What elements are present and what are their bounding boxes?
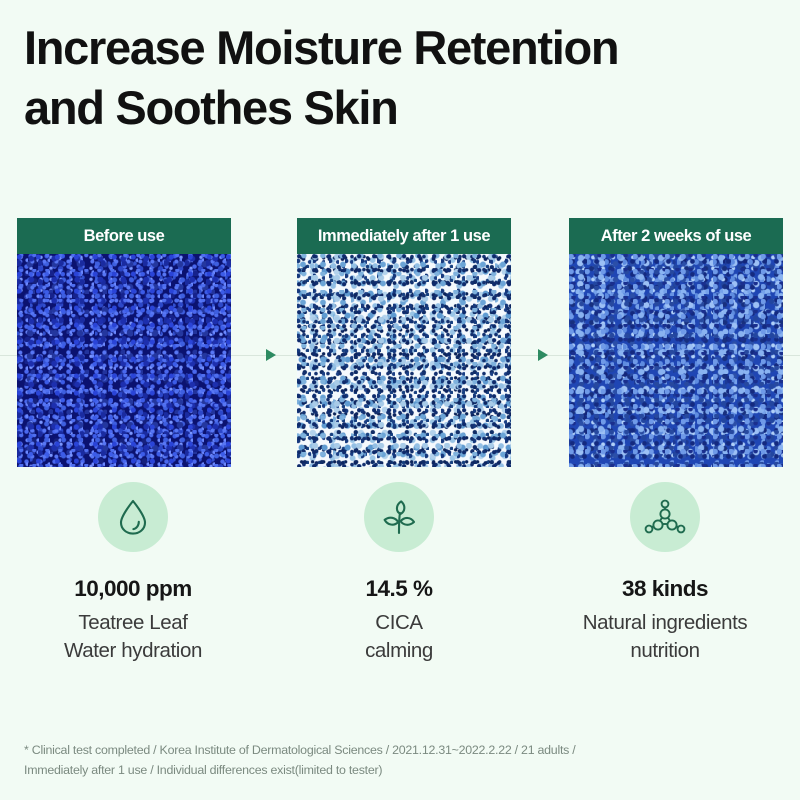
benefit-description-line-1: CICA <box>365 609 433 637</box>
page-title-line-2: and Soothes Skin <box>24 78 794 138</box>
benefit-description-line-2: nutrition <box>583 637 747 665</box>
benefit-description-line-1: Teatree Leaf <box>64 609 202 637</box>
skin-texture-swatch <box>17 254 231 467</box>
benefit-description: CICA calming <box>365 609 433 664</box>
benefit-value: 10,000 ppm <box>74 576 192 602</box>
benefit-icon-badge <box>364 482 434 552</box>
benefit-description-line-2: Water hydration <box>64 637 202 665</box>
footnote-line-1: * Clinical test completed / Korea Instit… <box>24 740 780 760</box>
footnote-disclaimer: * Clinical test completed / Korea Instit… <box>24 740 780 780</box>
benefit-item-cica: 14.5 % CICA calming <box>266 482 532 664</box>
panel-header-label: After 2 weeks of use <box>569 218 783 254</box>
benefit-description: Natural ingredients nutrition <box>583 609 747 664</box>
skin-scan-image-before-use <box>17 254 231 467</box>
comparison-panel-after-two-weeks: After 2 weeks of use <box>569 218 783 467</box>
molecule-icon <box>644 498 686 536</box>
benefit-icon-badge <box>630 482 700 552</box>
benefits-row: 10,000 ppm Teatree Leaf Water hydration … <box>0 482 800 664</box>
comparison-strip: Before use Immediately after 1 use After… <box>0 218 800 470</box>
benefit-description-line-2: calming <box>365 637 433 665</box>
benefit-icon-badge <box>98 482 168 552</box>
page-title: Increase Moisture Retention and Soothes … <box>24 18 794 138</box>
page-title-line-1: Increase Moisture Retention <box>24 18 794 78</box>
benefit-item-nutrition: 38 kinds Natural ingredients nutrition <box>532 482 798 664</box>
panel-header-label: Before use <box>17 218 231 254</box>
skin-texture-swatch <box>569 254 783 467</box>
comparison-panel-before-use: Before use <box>17 218 231 467</box>
skin-texture-swatch <box>297 254 511 467</box>
benefit-description-line-1: Natural ingredients <box>583 609 747 637</box>
skin-scan-image-immediately-after <box>297 254 511 467</box>
benefit-item-hydration: 10,000 ppm Teatree Leaf Water hydration <box>0 482 266 664</box>
triangle-right-icon <box>538 349 548 361</box>
leaf-sprout-icon <box>379 498 419 536</box>
comparison-panel-immediately-after: Immediately after 1 use <box>297 218 511 467</box>
benefit-value: 38 kinds <box>622 576 708 602</box>
footnote-line-2: Immediately after 1 use / Individual dif… <box>24 760 780 780</box>
panel-header-label: Immediately after 1 use <box>297 218 511 254</box>
benefit-value: 14.5 % <box>365 576 432 602</box>
benefit-description: Teatree Leaf Water hydration <box>64 609 202 664</box>
water-drop-icon <box>116 498 150 536</box>
skin-scan-image-after-two-weeks <box>569 254 783 467</box>
triangle-right-icon <box>266 349 276 361</box>
